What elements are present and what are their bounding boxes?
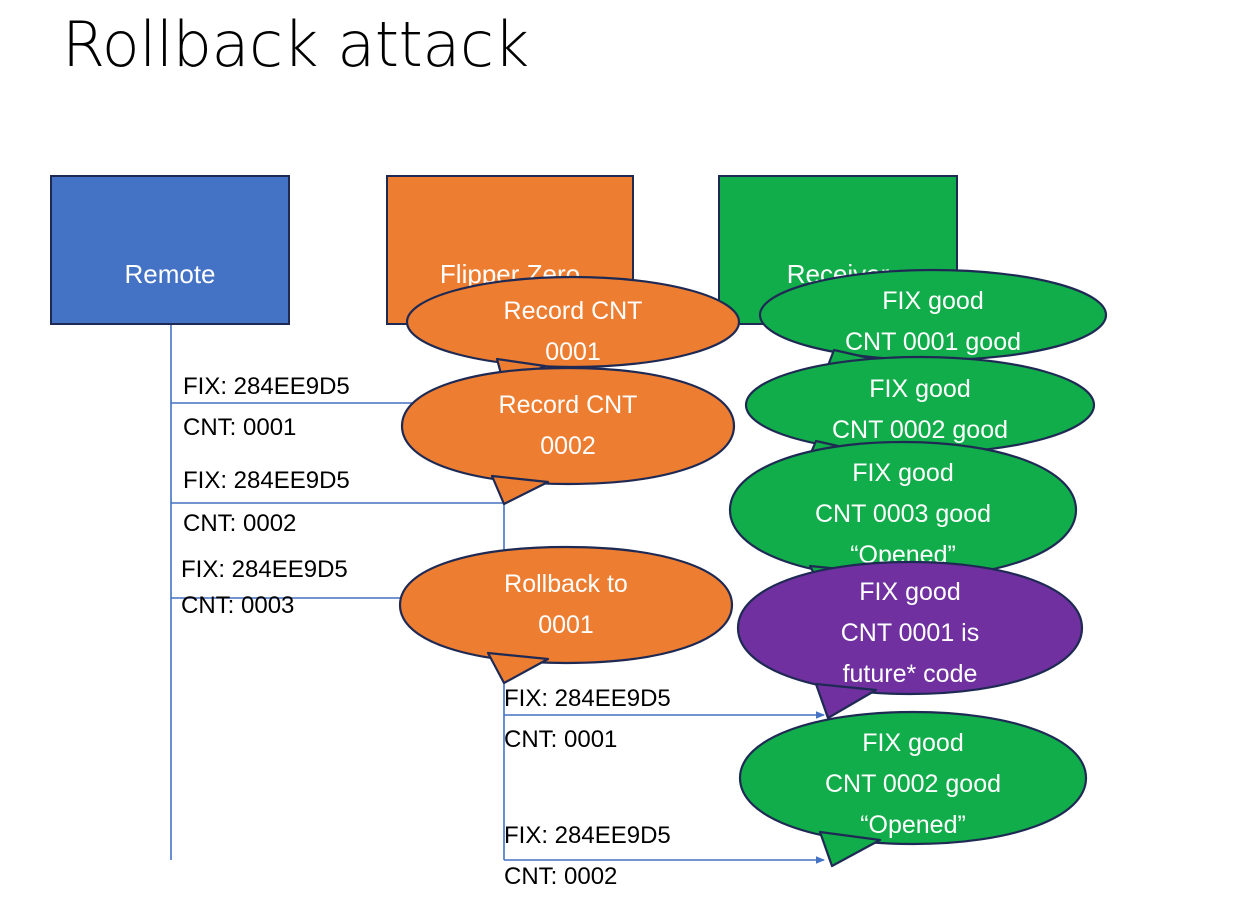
callout-receiver-cnt-0001-future[interactable]: FIX good CNT 0001 is future* code bbox=[736, 560, 1084, 715]
message-2-cnt-label: CNT: 0002 bbox=[183, 510, 296, 538]
callout-flipper-record-0001[interactable]: Record CNT 0001 bbox=[405, 275, 741, 375]
callout-flipper-rollback-0001[interactable]: Rollback to 0001 bbox=[398, 545, 734, 685]
message-3-fix-label: FIX: 284EE9D5 bbox=[181, 556, 348, 584]
actor-box-remote[interactable]: Remote bbox=[50, 175, 290, 325]
message-1-cnt-label: CNT: 0001 bbox=[183, 414, 296, 442]
message-4-fix-label: FIX: 284EE9D5 bbox=[504, 685, 671, 713]
actor-label-remote: Remote bbox=[124, 259, 215, 290]
callout-receiver-cnt-0002-opened[interactable]: FIX good CNT 0002 good “Opened” bbox=[738, 710, 1088, 862]
message-3-cnt-label: CNT: 0003 bbox=[181, 592, 294, 620]
slide-canvas: Rollback attack Remote Flipper Zero bbox=[0, 0, 1233, 898]
message-1-fix-label: FIX: 284EE9D5 bbox=[183, 373, 350, 401]
callout-receiver-cnt-0001-good[interactable]: FIX good CNT 0001 good bbox=[758, 268, 1108, 368]
message-5-cnt-label: CNT: 0002 bbox=[504, 863, 617, 891]
message-4-cnt-label: CNT: 0001 bbox=[504, 726, 617, 754]
callout-flipper-record-0002[interactable]: Record CNT 0002 bbox=[400, 366, 736, 506]
message-5-fix-label: FIX: 284EE9D5 bbox=[504, 822, 671, 850]
message-2-fix-label: FIX: 284EE9D5 bbox=[183, 467, 350, 495]
